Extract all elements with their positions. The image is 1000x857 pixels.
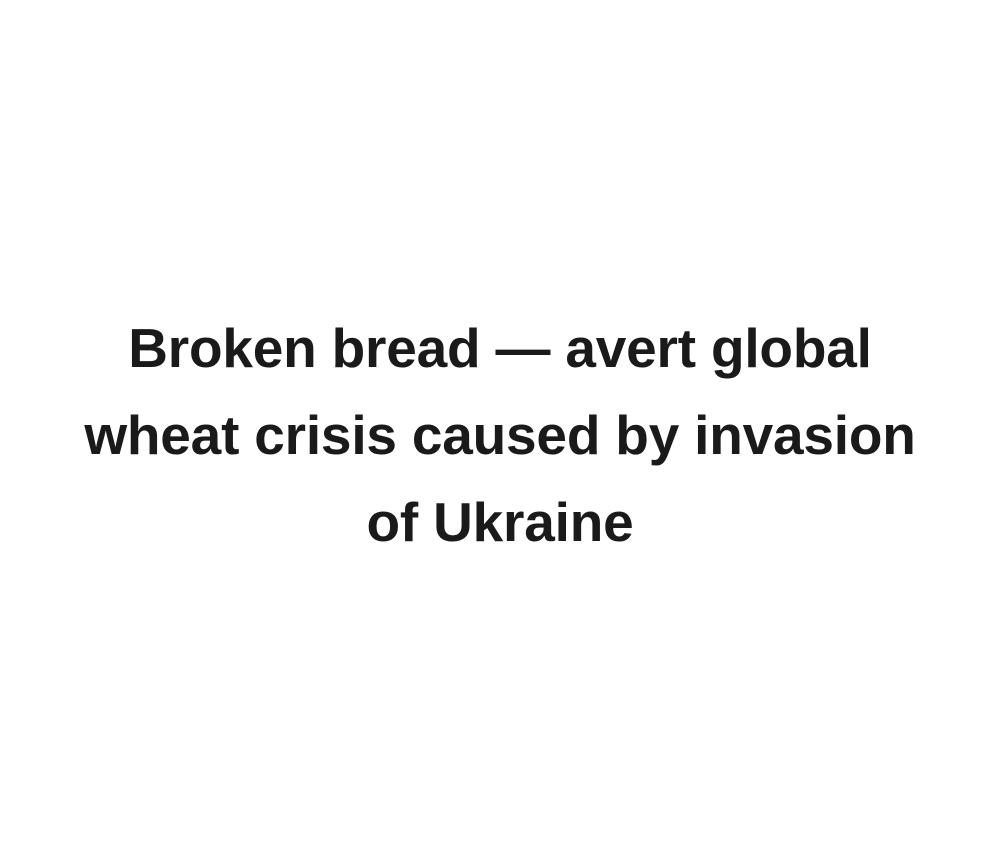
title-line-1: Broken bread — avert global (50, 305, 950, 392)
page-title: Broken bread — avert global wheat crisis… (40, 305, 960, 566)
title-line-2: wheat crisis caused by invasion (50, 392, 950, 479)
title-line-3: of Ukraine (50, 479, 950, 566)
slide-canvas: Broken bread — avert global wheat crisis… (0, 0, 1000, 857)
